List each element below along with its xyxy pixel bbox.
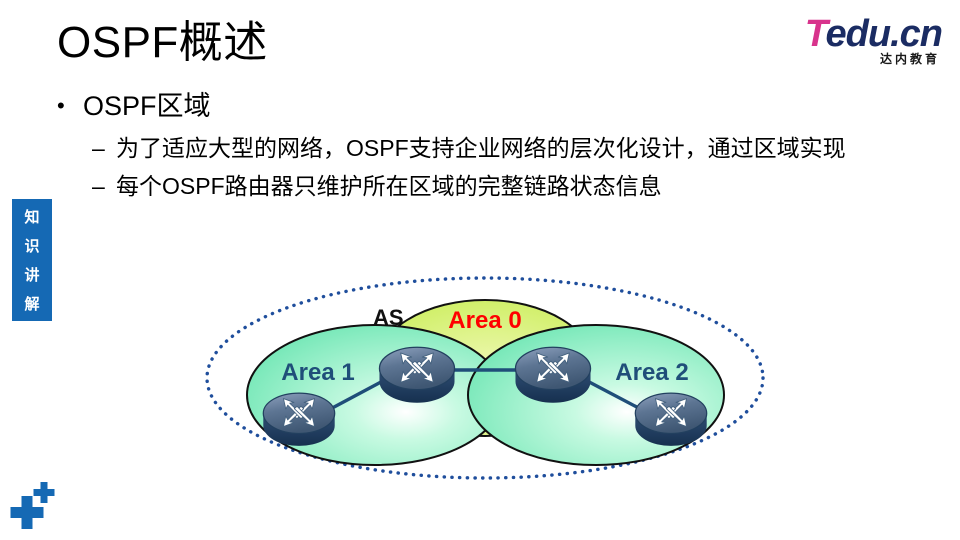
brand-logo: Tedu.cn 达内教育 xyxy=(790,14,942,76)
large-plus-icon xyxy=(11,496,44,529)
page-title: OSPF概述 xyxy=(57,17,268,69)
as-label: AS xyxy=(373,305,404,330)
area1-label: Area 1 xyxy=(281,359,354,386)
area2-label: Area 2 xyxy=(615,359,688,386)
bullet-level2: – 每个OSPF路由器只维护所在区域的完整链路状态信息 xyxy=(92,168,917,204)
bullet-marker: – xyxy=(92,130,116,166)
section-tab-char: 知 xyxy=(12,203,52,232)
bullet-level1: • OSPF区域 xyxy=(57,88,917,124)
area0-label: Area 0 xyxy=(448,307,521,334)
bullet-marker: • xyxy=(57,88,83,124)
router-icon xyxy=(515,347,590,402)
bullet-text: 为了适应大型的网络，OSPF支持企业网络的层次化设计，通过区域实现 xyxy=(116,130,916,166)
small-plus-icon xyxy=(34,482,55,503)
logo-letter-t: T xyxy=(805,13,826,55)
bullet-text: 每个OSPF路由器只维护所在区域的完整链路状态信息 xyxy=(116,168,916,204)
corner-decoration xyxy=(10,478,70,534)
router-icon xyxy=(263,393,334,446)
bullet-text: OSPF区域 xyxy=(83,88,211,124)
body-content: • OSPF区域 – 为了适应大型的网络，OSPF支持企业网络的层次化设计，通过… xyxy=(57,88,917,206)
section-tab-knowledge: 知 识 讲 解 xyxy=(12,199,52,321)
bullet-level2: – 为了适应大型的网络，OSPF支持企业网络的层次化设计，通过区域实现 xyxy=(92,130,917,166)
section-tab-char: 讲 xyxy=(12,261,52,290)
section-tab-char: 解 xyxy=(12,290,52,319)
router-icon xyxy=(379,347,454,402)
section-tab-char: 识 xyxy=(12,232,52,261)
ospf-area-diagram: AS Area 0 Area 1 Area 2 xyxy=(200,272,770,482)
logo-wordmark-rest: edu.cn xyxy=(826,13,942,55)
logo-wordmark: Tedu.cn xyxy=(790,14,942,54)
bullet-marker: – xyxy=(92,168,116,204)
router-icon xyxy=(635,393,706,446)
